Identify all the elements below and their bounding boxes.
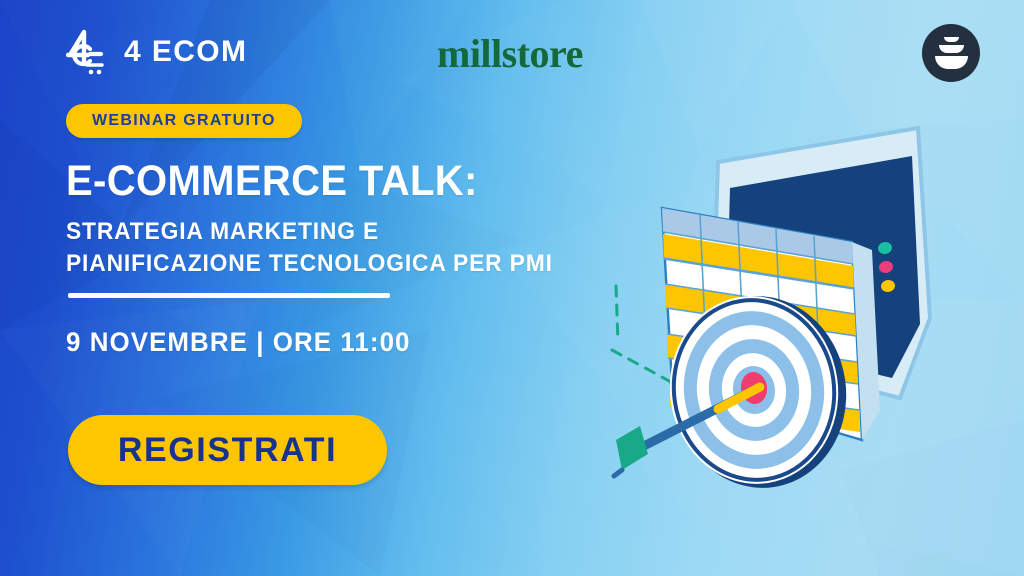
isometric-browser-dartboard-illustration — [600, 110, 1000, 490]
divider-rule — [68, 293, 390, 298]
subtitle-line-2: PIANIFICAZIONE TECNOLOGICA PER PMI — [66, 252, 553, 276]
brand-logo-4ecom[interactable]: 4 ECOM — [66, 28, 247, 76]
event-datetime: 9 NOVEMBRE | ORE 11:00 — [66, 329, 411, 356]
4ecom-monogram-icon — [66, 28, 110, 76]
free-webinar-badge: WEBINAR GRATUITO — [66, 104, 302, 138]
page-title: E-COMMERCE TALK: — [66, 160, 478, 203]
stacked-bowls-logo-icon[interactable] — [922, 24, 980, 82]
brand-logo-text: 4 ECOM — [124, 37, 247, 67]
bowl-shape-medium — [939, 45, 964, 53]
register-button[interactable]: REGISTRATI — [68, 415, 387, 485]
bowl-shape-large — [935, 56, 968, 69]
partner-logo-millstore[interactable]: millstore — [437, 30, 583, 78]
bowl-shape-small — [944, 37, 959, 42]
subtitle-line-1: STRATEGIA MARKETING E — [66, 220, 379, 244]
webinar-promo-banner: 4 ECOM millstore WEBINAR GRATUITO E-COMM… — [0, 0, 1024, 576]
